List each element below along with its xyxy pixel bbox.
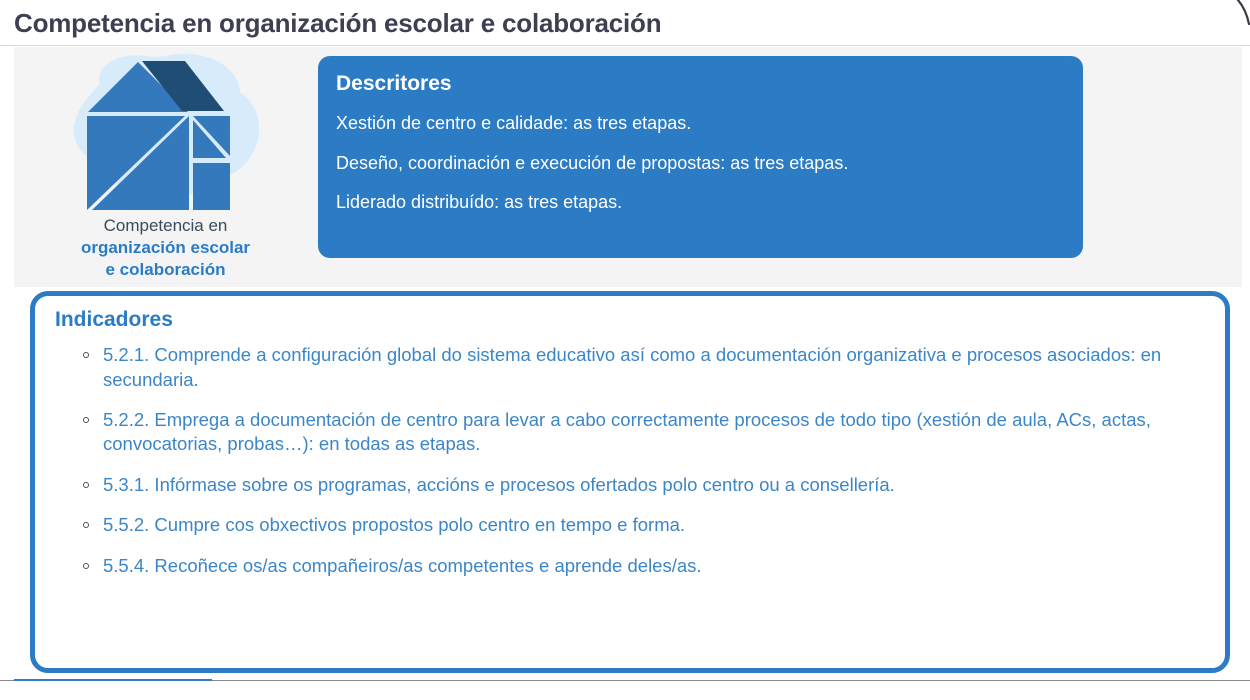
corner-stroke-decoration <box>1216 0 1250 32</box>
list-item[interactable]: 5.2.2. Emprega a documentación de centro… <box>83 408 1209 457</box>
descriptors-card: Descritores Xestión de centro e calidade… <box>318 56 1083 258</box>
tangram-house-icon <box>60 50 270 215</box>
list-item[interactable]: 5.5.4. Recoñece os/as compañeiros/as com… <box>83 554 1209 578</box>
descriptors-heading: Descritores <box>336 72 1065 95</box>
list-item[interactable]: 5.2.1. Comprende a configuración global … <box>83 343 1209 392</box>
page-title: Competencia en organización escolar e co… <box>14 8 661 39</box>
caption-line-2: organización escolar <box>38 237 293 259</box>
caption-line-3: e colaboración <box>38 259 293 281</box>
indicators-list: 5.2.1. Comprende a configuración global … <box>53 343 1209 578</box>
competency-icon-caption: Competencia en organización escolar e co… <box>38 215 293 280</box>
list-item[interactable]: 5.3.1. Infórmase sobre os programas, acc… <box>83 473 1209 497</box>
descriptor-item: Liderado distribuído: as tres etapas. <box>336 192 1065 214</box>
competency-header-panel: Competencia en organización escolar e co… <box>14 47 1242 287</box>
caption-line-1: Competencia en <box>38 215 293 237</box>
list-item[interactable]: 5.5.2. Cumpre cos obxectivos propostos p… <box>83 513 1209 537</box>
title-divider <box>0 45 1250 46</box>
descriptor-item: Xestión de centro e calidade: as tres et… <box>336 113 1065 135</box>
indicators-heading: Indicadores <box>55 308 1209 331</box>
page-root: Competencia en organización escolar e co… <box>0 0 1250 700</box>
bottom-divider-accent <box>14 679 212 681</box>
indicators-card: Indicadores 5.2.1. Comprende a configura… <box>30 291 1230 673</box>
descriptor-item: Deseño, coordinación e execución de prop… <box>336 153 1065 175</box>
competency-icon-block: Competencia en organización escolar e co… <box>38 47 293 287</box>
